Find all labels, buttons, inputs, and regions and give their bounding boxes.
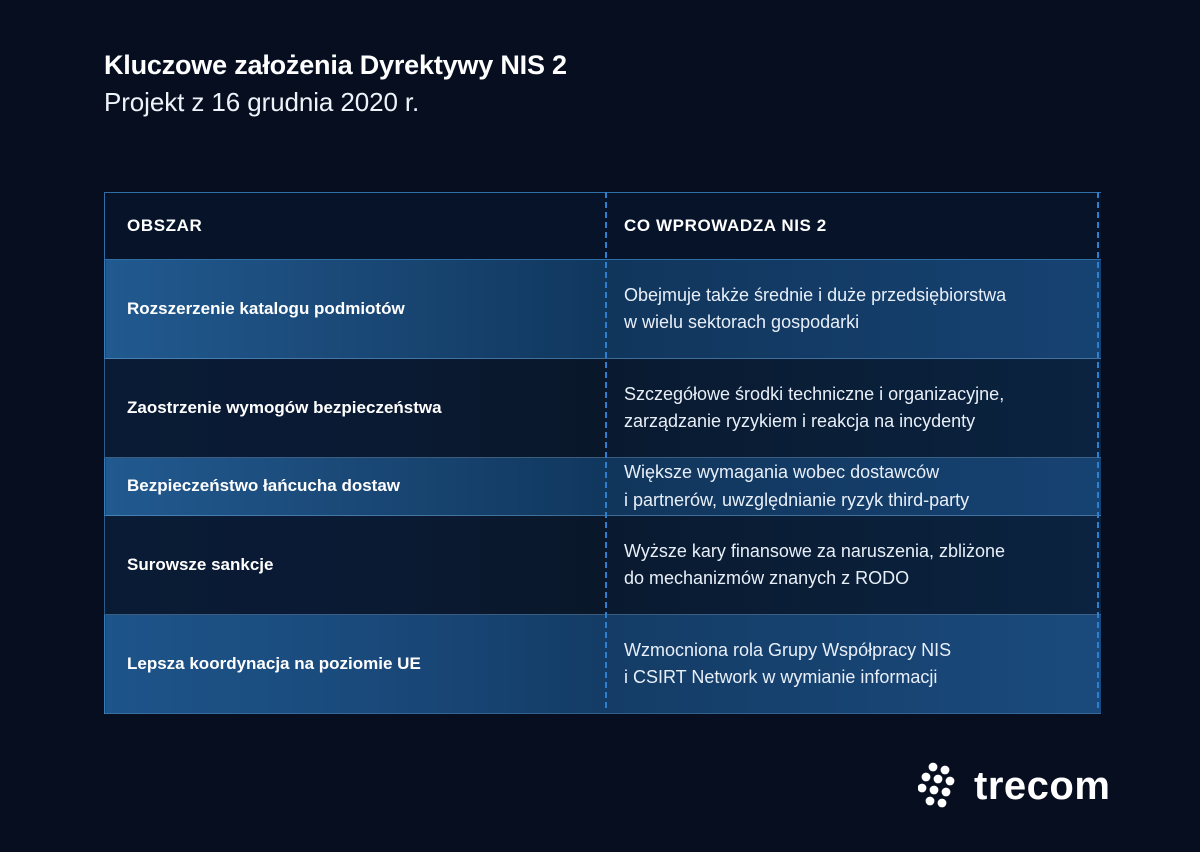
table-header-cell-intro: CO WPROWADZA NIS 2 [606,193,1101,260]
row-intro-line: i CSIRT Network w wymianie informacji [624,664,1087,691]
column-header-area: OBSZAR [105,216,606,236]
table-row: Rozszerzenie katalogu podmiotów Obejmuje… [105,260,1102,359]
column-header-intro: CO WPROWADZA NIS 2 [606,216,1101,236]
row-area-label: Bezpieczeństwo łańcucha dostaw [105,475,606,498]
row-intro-text: Większe wymagania wobec dostawców i part… [606,459,1101,514]
row-intro-line: zarządzanie ryzykiem i reakcja na incyde… [624,408,1087,435]
table-row: Zaostrzenie wymogów bezpieczeństwa Szcze… [105,359,1102,458]
row-intro-text: Wzmocniona rola Grupy Współpracy NIS i C… [606,637,1101,692]
table-cell-intro: Większe wymagania wobec dostawców i part… [606,458,1101,516]
row-area-label: Surowsze sankcje [105,554,606,577]
nis2-table: OBSZAR CO WPROWADZA NIS 2 Rozszerzenie k… [104,192,1100,708]
row-intro-line: Wyższe kary finansowe za naruszenia, zbl… [624,538,1087,565]
table-row: Bezpieczeństwo łańcucha dostaw Większe w… [105,458,1102,516]
row-area-label: Zaostrzenie wymogów bezpieczeństwa [105,397,606,420]
row-intro-line: Większe wymagania wobec dostawców [624,459,1087,486]
row-intro-text: Szczegółowe środki techniczne i organiza… [606,381,1101,436]
table-cell-intro: Szczegółowe środki techniczne i organiza… [606,359,1101,458]
table-row: Surowsze sankcje Wyższe kary finansowe z… [105,516,1102,615]
row-intro-line: i partnerów, uwzględnianie ryzyk third-p… [624,487,1087,514]
table-cell-area: Bezpieczeństwo łańcucha dostaw [105,458,607,516]
row-intro-line: w wielu sektorach gospodarki [624,309,1087,336]
row-intro-line: Wzmocniona rola Grupy Współpracy NIS [624,637,1087,664]
table-cell-intro: Wzmocniona rola Grupy Współpracy NIS i C… [606,615,1101,714]
page-title-block: Kluczowe założenia Dyrektywy NIS 2 Proje… [104,48,1004,119]
table-cell-area: Zaostrzenie wymogów bezpieczeństwa [105,359,607,458]
dot-cluster-icon [918,762,968,808]
row-intro-text: Obejmuje także średnie i duże przedsiębi… [606,282,1101,337]
brand-wordmark: trecom [974,766,1110,806]
page-subtitle: Projekt z 16 grudnia 2020 r. [104,86,1004,120]
table-cell-intro: Wyższe kary finansowe za naruszenia, zbl… [606,516,1101,615]
row-intro-line: do mechanizmów znanych z RODO [624,565,1087,592]
table-cell-area: Rozszerzenie katalogu podmiotów [105,260,607,359]
row-intro-line: Obejmuje także średnie i duże przedsiębi… [624,282,1087,309]
page-title: Kluczowe założenia Dyrektywy NIS 2 [104,48,1004,83]
table-header-row: OBSZAR CO WPROWADZA NIS 2 [105,193,1102,260]
row-area-label: Rozszerzenie katalogu podmiotów [105,298,606,321]
brand-logo: trecom [918,758,1108,812]
table-cell-intro: Obejmuje także średnie i duże przedsiębi… [606,260,1101,359]
table-row: Lepsza koordynacja na poziomie UE Wzmocn… [105,615,1102,714]
table-header-cell-area: OBSZAR [105,193,607,260]
row-area-label: Lepsza koordynacja na poziomie UE [105,653,606,676]
row-intro-text: Wyższe kary finansowe za naruszenia, zbl… [606,538,1101,593]
table-cell-area: Surowsze sankcje [105,516,607,615]
row-intro-line: Szczegółowe środki techniczne i organiza… [624,381,1087,408]
table-cell-area: Lepsza koordynacja na poziomie UE [105,615,607,714]
